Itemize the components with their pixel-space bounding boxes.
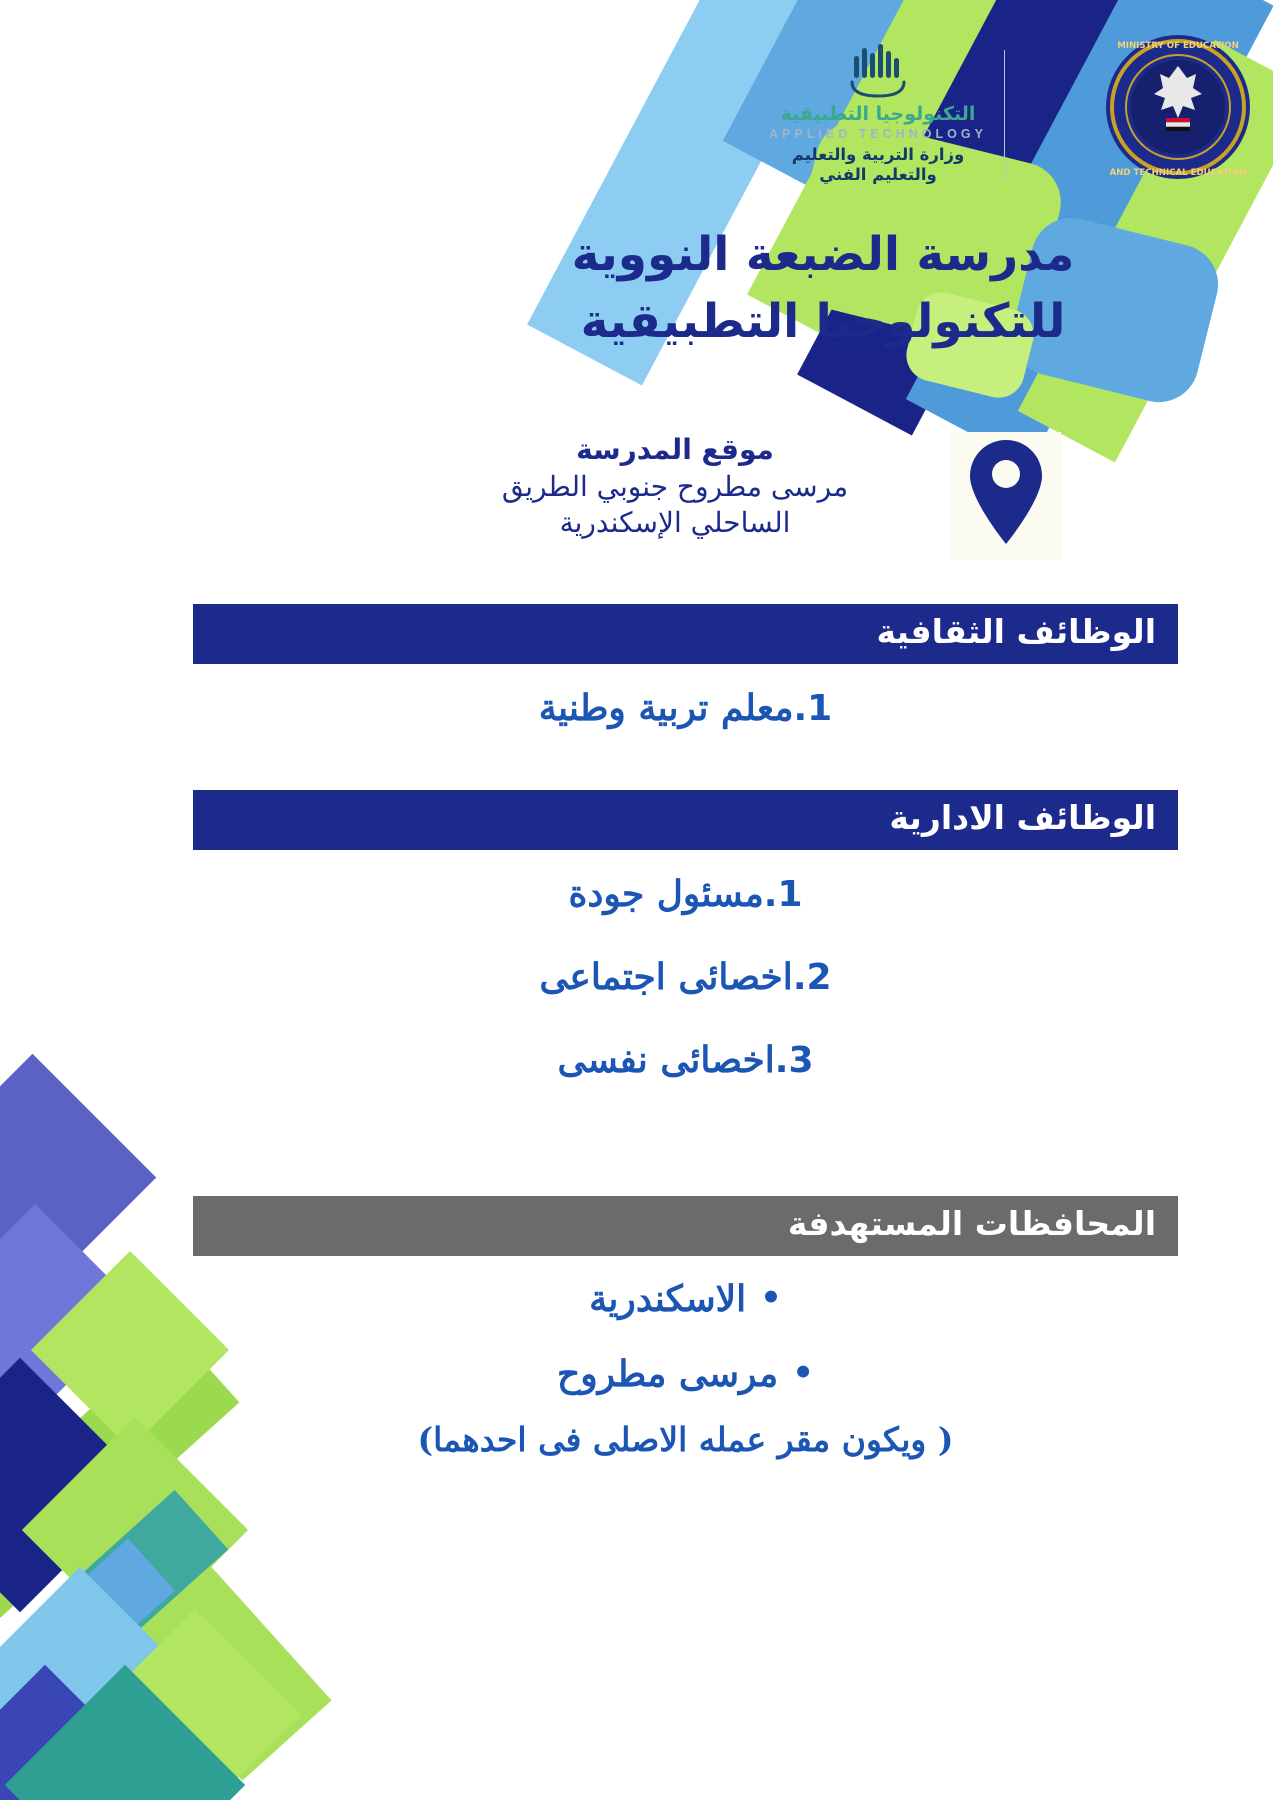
- list-item-number: 1.: [764, 874, 803, 915]
- list-item-label: اخصائى اجتماعى: [539, 956, 792, 998]
- list-item-label: مسئول جودة: [568, 873, 763, 915]
- governorates-list: الاسكندرية مرسى مطروح: [193, 1256, 1178, 1406]
- header-logos: التكنولوجيا التطبيقية APPLIED TECHNOLOGY…: [0, 20, 1273, 195]
- svg-text:AND TECHNICAL EDUCATION: AND TECHNICAL EDUCATION: [1110, 168, 1247, 178]
- list-item-label: اخصائى نفسى: [557, 1039, 774, 1081]
- section-header-administrative-jobs: الوظائف الادارية: [193, 790, 1178, 850]
- map-pin-container: [951, 432, 1061, 560]
- header-divider: [1004, 50, 1005, 180]
- page-title: مدرسة الضبعة النووية للتكنولوجيا التطبيق…: [373, 222, 1273, 355]
- page-title-line-2: للتكنولوجيا التطبيقية: [373, 289, 1273, 356]
- list-item-number: 2.: [793, 957, 832, 998]
- poster-page: التكنولوجيا التطبيقية APPLIED TECHNOLOGY…: [0, 0, 1273, 1800]
- section-target-governorates: المحافظات المستهدفة الاسكندرية مرسى مطرو…: [193, 1196, 1178, 1460]
- section-cultural-jobs: الوظائف الثقافية 1.معلم تربية وطنية: [193, 604, 1178, 747]
- governorates-note: ( ويكون مقر عمله الاصلى فى احدهما): [193, 1406, 1178, 1460]
- list-item-number: 1.: [793, 688, 832, 729]
- list-item: 1.معلم تربية وطنية: [193, 664, 1178, 747]
- list-item: 2.اخصائى اجتماعى: [193, 933, 1178, 1016]
- school-location-block: موقع المدرسة مرسى مطروح جنوبي الطريق الس…: [373, 432, 1103, 560]
- applied-technology-mark-icon: [846, 42, 910, 100]
- list-item: الاسكندرية: [193, 1256, 1178, 1331]
- list-item: 3.اخصائى نفسى: [193, 1016, 1178, 1099]
- school-location-text: موقع المدرسة مرسى مطروح جنوبي الطريق الس…: [415, 432, 935, 542]
- ministry-name-ar: وزارة التربية والتعليم والتعليم الفني: [763, 145, 993, 185]
- list-item: 1.مسئول جودة: [193, 850, 1178, 933]
- school-address-line-1: مرسى مطروح جنوبي الطريق: [415, 469, 935, 505]
- applied-technology-title-en: APPLIED TECHNOLOGY: [763, 127, 993, 141]
- ministry-seal-icon: MINISTRY OF EDUCATION AND TECHNICAL EDUC…: [1103, 32, 1253, 182]
- administrative-jobs-list: 1.مسئول جودة 2.اخصائى اجتماعى 3.اخصائى ن…: [193, 850, 1178, 1099]
- applied-technology-logo: التكنولوجيا التطبيقية APPLIED TECHNOLOGY…: [763, 42, 993, 184]
- cultural-jobs-list: 1.معلم تربية وطنية: [193, 664, 1178, 747]
- school-location-label: موقع المدرسة: [415, 432, 935, 467]
- section-header-target-governorates: المحافظات المستهدفة: [193, 1196, 1178, 1256]
- applied-technology-title-ar: التكنولوجيا التطبيقية: [763, 104, 993, 125]
- list-item-label: معلم تربية وطنية: [539, 687, 794, 729]
- section-header-cultural-jobs: الوظائف الثقافية: [193, 604, 1178, 664]
- page-title-line-1: مدرسة الضبعة النووية: [373, 222, 1273, 289]
- svg-text:MINISTRY OF EDUCATION: MINISTRY OF EDUCATION: [1117, 41, 1239, 51]
- school-address-line-2: الساحلي الإسكندرية: [415, 505, 935, 541]
- map-pin-icon: [967, 438, 1045, 546]
- list-item: مرسى مطروح: [193, 1331, 1178, 1406]
- section-administrative-jobs: الوظائف الادارية 1.مسئول جودة 2.اخصائى ا…: [193, 790, 1178, 1099]
- list-item-number: 3.: [775, 1040, 814, 1081]
